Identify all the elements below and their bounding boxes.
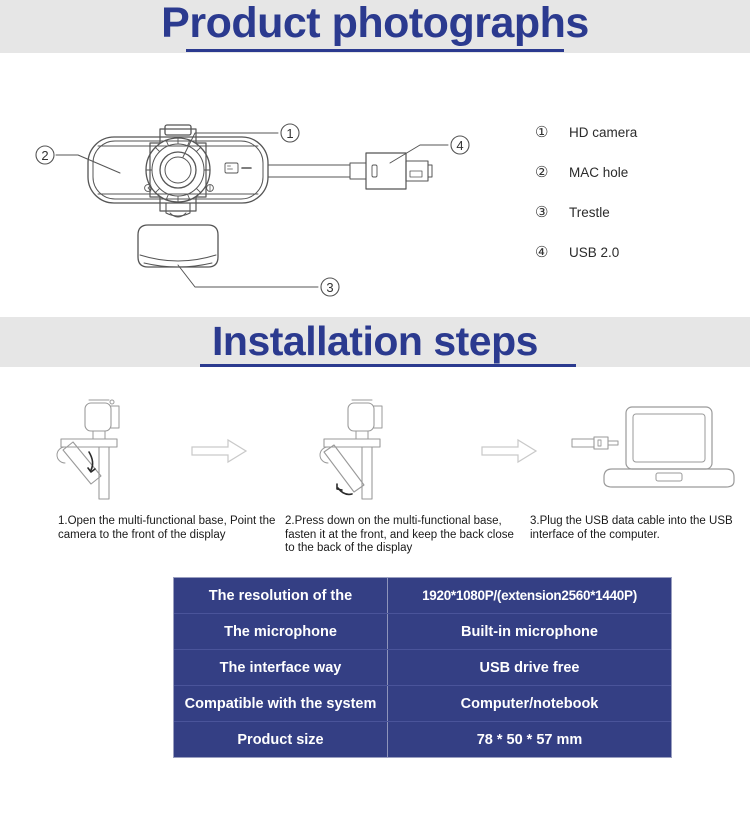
step-2-caption: 2.Press down on the multi-functional bas… [285, 515, 520, 556]
camera-head [85, 400, 119, 439]
callout-leader-lines [56, 133, 448, 287]
spec-key: Product size [174, 722, 388, 757]
camera-head [348, 400, 382, 439]
circled-number-3-icon: ③ [535, 203, 569, 221]
camera-body-outline [88, 137, 268, 203]
callout-markers: 1 2 3 4 [36, 124, 469, 296]
mount-base-clamped [320, 439, 380, 499]
svg-text:2: 2 [41, 148, 48, 163]
product-photographs-title-underline [186, 49, 564, 52]
spec-value: 78 * 50 * 57 mm [388, 722, 671, 757]
product-photographs-title: Product photographs [0, 0, 750, 50]
product-diagram: 1 2 3 4 [20, 85, 510, 300]
legend-item: ④ USB 2.0 [535, 232, 735, 272]
svg-text:1: 1 [286, 126, 293, 141]
table-row: Product size 78 * 50 * 57 mm [174, 722, 671, 757]
step-1-caption: 1.Open the multi-functional base, Point … [58, 515, 288, 542]
step-arrow-1-icon [190, 438, 248, 469]
spec-value: Built-in microphone [388, 614, 671, 649]
step-2-illustration [318, 390, 438, 515]
legend-item-label: USB 2.0 [569, 245, 619, 260]
spec-key: The interface way [174, 650, 388, 685]
legend-item-label: MAC hole [569, 165, 628, 180]
table-row: The resolution of the 1920*1080P/(extens… [174, 578, 671, 614]
installation-steps-title: Installation steps [0, 315, 750, 367]
step-1-illustration [55, 390, 175, 515]
step-3-illustration [570, 397, 745, 502]
spec-key: Compatible with the system [174, 686, 388, 721]
spec-key: The resolution of the [174, 578, 388, 613]
circled-number-1-icon: ① [535, 123, 569, 141]
mac-hole-detail [106, 167, 120, 173]
spec-key: The microphone [174, 614, 388, 649]
installation-steps-title-underline [200, 364, 576, 367]
mount-base [57, 439, 117, 499]
table-row: Compatible with the system Computer/note… [174, 686, 671, 722]
legend-item: ① HD camera [535, 112, 735, 152]
installation-steps-row: 1.Open the multi-functional base, Point … [0, 385, 750, 560]
circled-number-2-icon: ② [535, 163, 569, 181]
lens-ring [146, 138, 210, 202]
svg-text:4: 4 [456, 138, 463, 153]
usb-cable [268, 163, 366, 179]
legend-item: ② MAC hole [535, 152, 735, 192]
table-row: The interface way USB drive free [174, 650, 671, 686]
legend-item-label: HD camera [569, 125, 637, 140]
step-3-caption: 3.Plug the USB data cable into the USB i… [530, 515, 745, 542]
specification-table: The resolution of the 1920*1080P/(extens… [173, 577, 672, 758]
legend-item: ③ Trestle [535, 192, 735, 232]
spec-value: USB drive free [388, 650, 671, 685]
table-row: The microphone Built-in microphone [174, 614, 671, 650]
legend-item-label: Trestle [569, 205, 610, 220]
usb-connector [366, 153, 432, 189]
diagram-legend: ① HD camera ② MAC hole ③ Trestle ④ USB 2… [535, 112, 735, 272]
spec-value: Computer/notebook [388, 686, 671, 721]
laptop-icon [604, 407, 734, 487]
base-trestle [138, 203, 218, 267]
step-arrow-2-icon [480, 438, 538, 469]
spec-value: 1920*1080P/(extension2560*1440P) [388, 578, 671, 613]
usb-plug-icon [572, 437, 618, 449]
svg-text:3: 3 [326, 280, 333, 295]
circled-number-4-icon: ④ [535, 243, 569, 261]
